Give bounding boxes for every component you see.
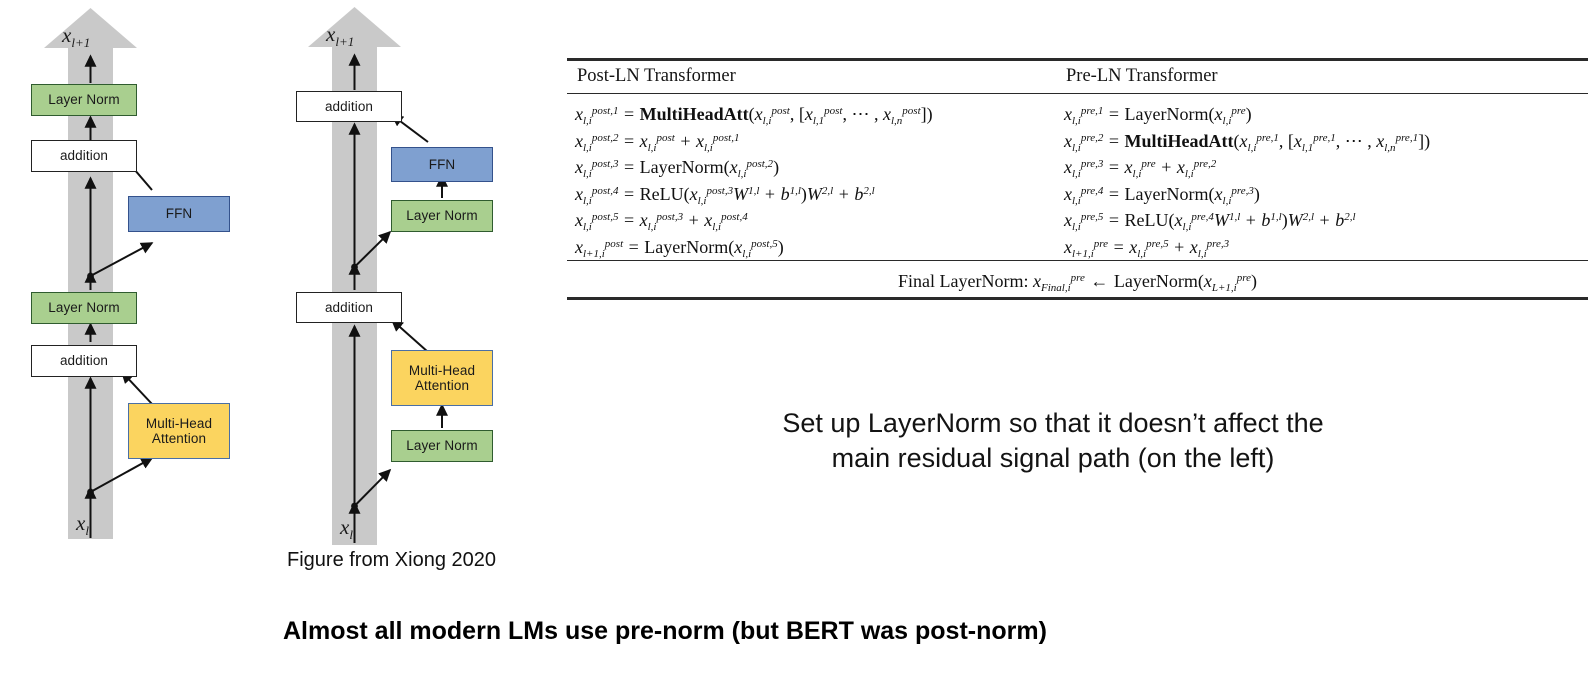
pre-ln-eq-3: xl,ipre,3 = xl,ipre + xl,ipre,2 xyxy=(1064,151,1584,178)
post-ln-equation-column: xl,ipost,1 = MultiHeadAtt(xl,ipost, [xl,… xyxy=(575,98,1064,257)
table-body: xl,ipost,1 = MultiHeadAtt(xl,ipost, [xl,… xyxy=(567,94,1588,260)
post-ln-eq-5: xl,ipost,5 = xl,ipost,3 + xl,ipost,4 xyxy=(575,204,1064,231)
pre-ln-eq-2: xl,ipre,2 = MultiHeadAtt(xl,ipre,1, [xl,… xyxy=(1064,125,1584,152)
post-ln-diagram: xl+1 xl Layer Norm addition FFN Layer No… xyxy=(0,0,260,560)
pre-ln-eq-4: xl,ipre,4 = LayerNorm(xl,ipre,3) xyxy=(1064,178,1584,205)
pre-ln-multi-head-attention[interactable]: Multi-Head Attention xyxy=(391,350,493,406)
table-header-pre-ln: Pre-LN Transformer xyxy=(1066,66,1566,87)
pre-ln-eq-6: xl+1,ipre = xl,ipre,5 + xl,ipre,3 xyxy=(1064,231,1584,258)
table-rule-bottom xyxy=(567,297,1588,300)
pre-ln-diagram: xl+1 xl addition FFN Layer Norm addition… xyxy=(258,0,538,585)
explanatory-text-line-1: Set up LayerNorm so that it doesn’t affe… xyxy=(718,406,1388,441)
figure-caption: Figure from Xiong 2020 xyxy=(287,549,496,572)
explanatory-text: Set up LayerNorm so that it doesn’t affe… xyxy=(718,406,1388,475)
post-ln-eq-1: xl,ipost,1 = MultiHeadAtt(xl,ipost, [xl,… xyxy=(575,98,1064,125)
post-ln-addition-bottom[interactable]: addition xyxy=(31,345,137,377)
output-label-x-l-plus-1: xl+1 xyxy=(326,22,354,50)
pre-ln-eq-1: xl,ipre,1 = LayerNorm(xl,ipre) xyxy=(1064,98,1584,125)
input-label-x-l: xl xyxy=(340,515,353,543)
explanatory-text-line-2: main residual signal path (on the left) xyxy=(718,441,1388,476)
post-ln-addition-top[interactable]: addition xyxy=(31,140,137,172)
table-header-row: Post-LN Transformer Pre-LN Transformer xyxy=(567,61,1588,93)
post-ln-eq-4: xl,ipost,4 = ReLU(xl,ipost,3W1,l + b1,l)… xyxy=(575,178,1064,205)
slide-canvas: xl+1 xl Layer Norm addition FFN Layer No… xyxy=(0,0,1594,681)
slide-headline: Almost all modern LMs use pre-norm (but … xyxy=(283,617,1047,646)
post-ln-layer-norm-bottom[interactable]: Layer Norm xyxy=(31,292,137,324)
post-ln-multi-head-attention[interactable]: Multi-Head Attention xyxy=(128,403,230,459)
post-ln-eq-3: xl,ipost,3 = LayerNorm(xl,ipost,2) xyxy=(575,151,1064,178)
table-footer-row: Final LayerNorm: xFinal,ipre ← LayerNorm… xyxy=(567,261,1588,297)
post-ln-ffn[interactable]: FFN xyxy=(128,196,230,232)
mha-label-line2: Attention xyxy=(152,431,206,446)
pre-ln-equation-column: xl,ipre,1 = LayerNorm(xl,ipre) xl,ipre,2… xyxy=(1064,98,1584,257)
post-ln-eq-6: xl+1,ipost = LayerNorm(xl,ipost,5) xyxy=(575,231,1064,258)
output-label-x-l-plus-1: xl+1 xyxy=(62,23,90,51)
mha-label-line1: Multi-Head xyxy=(146,416,212,431)
pre-ln-eq-5: xl,ipre,5 = ReLU(xl,ipre,4W1,l + b1,l)W2… xyxy=(1064,204,1584,231)
pre-ln-layer-norm-lower[interactable]: Layer Norm xyxy=(391,430,493,462)
pre-ln-ffn[interactable]: FFN xyxy=(391,147,493,182)
equation-table: Post-LN Transformer Pre-LN Transformer x… xyxy=(567,58,1588,300)
pre-ln-layer-norm-upper[interactable]: Layer Norm xyxy=(391,200,493,232)
table-header-post-ln: Post-LN Transformer xyxy=(577,66,1066,87)
pre-ln-addition-bottom[interactable]: addition xyxy=(296,292,402,323)
mha-label-line2: Attention xyxy=(415,378,469,393)
pre-ln-addition-top[interactable]: addition xyxy=(296,91,402,122)
input-label-x-l: xl xyxy=(76,511,89,539)
post-ln-layer-norm-top[interactable]: Layer Norm xyxy=(31,84,137,116)
post-ln-eq-2: xl,ipost,2 = xl,ipost + xl,ipost,1 xyxy=(575,125,1064,152)
mha-label-line1: Multi-Head xyxy=(409,363,475,378)
final-layernorm-equation: Final LayerNorm: xFinal,ipre ← LayerNorm… xyxy=(898,265,1257,292)
